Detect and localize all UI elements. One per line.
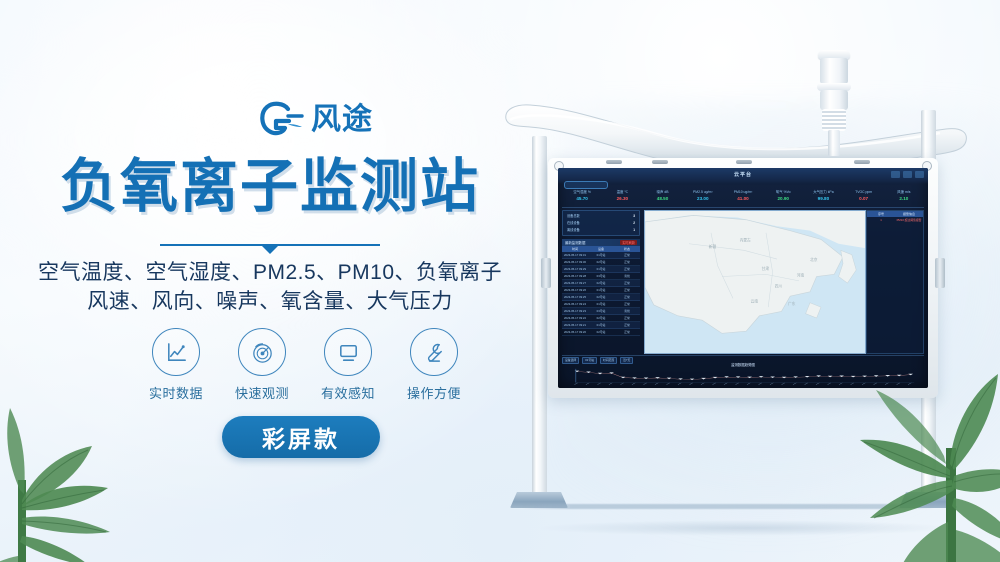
cell-device: 01号站 bbox=[588, 288, 614, 292]
table-title: 最新监测数据 bbox=[565, 240, 585, 245]
cell-status: 正常 bbox=[614, 302, 640, 306]
header-tool-button[interactable] bbox=[891, 171, 900, 178]
metric-value: 20.90 bbox=[763, 195, 803, 203]
table-row[interactable]: 2023-05-17 09:24 01号站 正常 bbox=[562, 301, 640, 308]
cell-status: 离线 bbox=[614, 274, 640, 278]
chart-control-label: 时间范围 bbox=[600, 357, 617, 364]
cell-time: 2023-05-17 09:25 bbox=[562, 295, 588, 299]
alarm-header-cell: 报警信息 bbox=[895, 212, 923, 216]
monitor-display-icon bbox=[324, 328, 372, 376]
svg-text:新疆: 新疆 bbox=[709, 244, 717, 249]
brand-logo: 风途 bbox=[258, 100, 373, 140]
table-row[interactable]: 2023-05-17 09:31 01号站 正常 bbox=[562, 252, 640, 259]
enclosure-mount-tab bbox=[606, 160, 622, 164]
cell-device: 03号站 bbox=[588, 274, 614, 278]
table-row[interactable]: 2023-05-17 09:30 02号站 正常 bbox=[562, 259, 640, 266]
header-tools bbox=[891, 171, 924, 178]
cell-time: 2023-05-17 09:29 bbox=[562, 267, 588, 271]
metric-value: 23.00 bbox=[683, 195, 723, 203]
table-status-badge: 实时刷新 bbox=[620, 240, 637, 245]
cell-device: 01号站 bbox=[588, 253, 614, 257]
subtitle-line-1: 空气温度、空气湿度、PM2.5、PM10、负氧离子 bbox=[0, 258, 540, 287]
cell-status: 正常 bbox=[614, 281, 640, 285]
cell-status: 正常 bbox=[614, 316, 640, 320]
cell-time: 2023-05-17 09:30 bbox=[562, 260, 588, 264]
subtitle-line-2: 风速、风向、噪声、氧含量、大气压力 bbox=[0, 287, 540, 316]
stat-row: 离线设备 1 bbox=[567, 227, 635, 234]
cell-time: 2023-05-17 09:24 bbox=[562, 302, 588, 306]
poster-canvas: 风途 负氧离子监测站 空气温度、空气湿度、PM2.5、PM10、负氧离子 风速、… bbox=[0, 0, 1000, 562]
feature-label: 有效感知 bbox=[312, 383, 384, 402]
radar-sensor-icon bbox=[238, 328, 286, 376]
enclosure-mount-tab bbox=[652, 160, 668, 164]
metric-value: 2.10 bbox=[884, 195, 924, 203]
metric-value: 41.00 bbox=[723, 195, 763, 203]
table-header-cell: 设备 bbox=[588, 247, 614, 251]
cell-status: 正常 bbox=[614, 260, 640, 264]
svg-text:广东: 广东 bbox=[788, 301, 796, 306]
table-header-cell: 状态 bbox=[614, 247, 640, 251]
metric-value: 48.50 bbox=[642, 195, 682, 203]
alarm-message: PM10 超过阈值报警 bbox=[895, 218, 923, 222]
svg-text:河南: 河南 bbox=[797, 273, 805, 278]
cell-status: 正常 bbox=[614, 323, 640, 327]
metric-value: 0.07 bbox=[844, 195, 884, 203]
cell-time: 2023-05-17 09:31 bbox=[562, 253, 588, 257]
alarm-index: 1 bbox=[867, 218, 895, 222]
cell-time: 2023-05-17 09:21 bbox=[562, 323, 588, 327]
cell-time: 2023-05-17 09:27 bbox=[562, 281, 588, 285]
brand-name: 风途 bbox=[311, 105, 373, 135]
metric-card: TVOC ppm 0.07 bbox=[844, 189, 884, 207]
model-badge[interactable]: 彩屏款 bbox=[222, 416, 380, 458]
metric-card: 噪声 dB 48.50 bbox=[642, 189, 682, 207]
dashboard-title: 云平台 bbox=[558, 171, 928, 178]
table-row[interactable]: 2023-05-17 09:29 01号站 正常 bbox=[562, 266, 640, 273]
station-selector-pill[interactable] bbox=[564, 181, 608, 189]
stat-row: 设备总数 3 bbox=[567, 213, 635, 220]
cell-status: 正常 bbox=[614, 330, 640, 334]
cell-time: 2023-05-17 09:20 bbox=[562, 330, 588, 334]
svg-text:四川: 四川 bbox=[775, 284, 783, 288]
stat-label: 设备总数 bbox=[567, 213, 580, 220]
alarm-header-cell: 序号 bbox=[867, 212, 895, 216]
sensor-lower-body bbox=[820, 90, 848, 110]
header-tool-button[interactable] bbox=[903, 171, 912, 178]
svg-text:内蒙古: 内蒙古 bbox=[740, 238, 751, 243]
cell-device: 02号站 bbox=[588, 295, 614, 299]
g-arrow-logo-icon bbox=[258, 100, 304, 140]
side-bracket-left bbox=[541, 258, 551, 288]
cell-status: 离线 bbox=[614, 309, 640, 313]
stat-label: 在线设备 bbox=[567, 220, 580, 227]
device-select[interactable]: 01号站 bbox=[582, 357, 597, 364]
alarm-row[interactable]: 1 PM10 超过阈值报警 bbox=[867, 217, 923, 223]
cell-status: 正常 bbox=[614, 267, 640, 271]
cell-time: 2023-05-17 09:26 bbox=[562, 288, 588, 292]
svg-text:甘肃: 甘肃 bbox=[762, 266, 770, 271]
stat-value: 2 bbox=[633, 220, 635, 227]
table-row[interactable]: 2023-05-17 09:25 02号站 正常 bbox=[562, 294, 640, 301]
metric-card: 空气湿度 % 45.70 bbox=[562, 189, 602, 207]
banana-leaf-plant-icon bbox=[0, 360, 154, 562]
cell-status: 正常 bbox=[614, 295, 640, 299]
left-panel: 设备总数 3 在线设备 2 离线设备 1 bbox=[562, 210, 640, 354]
table-title-bar: 最新监测数据 实时刷新 bbox=[562, 239, 640, 246]
cell-device: 02号站 bbox=[588, 281, 614, 285]
latest-data-table: 最新监测数据 实时刷新 时间 设备 状态 2023-05-17 09:31 01… bbox=[562, 239, 640, 336]
cell-time: 2023-05-17 09:22 bbox=[562, 316, 588, 320]
feature-item-fast-observation[interactable]: 快速观测 bbox=[226, 328, 298, 402]
metric-card: 温度 ℃ 26.30 bbox=[602, 189, 642, 207]
header-tool-button[interactable] bbox=[915, 171, 924, 178]
side-bracket-right bbox=[935, 258, 945, 288]
cell-device: 01号站 bbox=[588, 323, 614, 327]
stat-value: 3 bbox=[633, 213, 635, 220]
cell-status: 正常 bbox=[614, 253, 640, 257]
cell-device: 02号站 bbox=[588, 260, 614, 264]
metric-value: 45.70 bbox=[562, 195, 602, 203]
enclosure-mount-tab bbox=[736, 160, 752, 164]
cell-device: 03号站 bbox=[588, 309, 614, 313]
metric-row: 空气湿度 % 45.70 温度 ℃ 26.30 噪声 dB 48.50 PM bbox=[562, 189, 924, 208]
cell-time: 2023-05-17 09:28 bbox=[562, 274, 588, 278]
subtitle-block: 空气温度、空气湿度、PM2.5、PM10、负氧离子 风速、风向、噪声、氧含量、大… bbox=[0, 258, 540, 316]
line-chart-icon bbox=[152, 328, 200, 376]
stat-label: 离线设备 bbox=[567, 227, 580, 234]
cell-device: 01号站 bbox=[588, 267, 614, 271]
metric-value: 99.80 bbox=[803, 195, 843, 203]
cell-time: 2023-05-17 09:23 bbox=[562, 309, 588, 313]
table-row[interactable]: 2023-05-17 09:21 01号站 正常 bbox=[562, 322, 640, 329]
wrench-tool-icon bbox=[410, 328, 458, 376]
ultrasonic-weather-sensor-icon bbox=[812, 50, 856, 155]
sensor-radiation-shield bbox=[822, 109, 846, 131]
stat-value: 1 bbox=[633, 227, 635, 234]
stat-row: 在线设备 2 bbox=[567, 220, 635, 227]
range-select[interactable]: 近7天 bbox=[620, 357, 633, 364]
table-row[interactable]: 2023-05-17 09:27 02号站 正常 bbox=[562, 280, 640, 287]
feature-item-effective-sensing[interactable]: 有效感知 bbox=[312, 328, 384, 402]
metric-card: PM2.5 ug/m³ 23.00 bbox=[683, 189, 723, 207]
feature-label: 快速观测 bbox=[226, 383, 298, 402]
cell-device: 02号站 bbox=[588, 330, 614, 334]
metric-card: 风速 m/s 2.10 bbox=[884, 189, 924, 207]
feature-list: 实时数据 快速观测 bbox=[140, 328, 470, 402]
cell-device: 01号站 bbox=[588, 302, 614, 306]
page-title: 负氧离子监测站 bbox=[0, 158, 540, 216]
cell-device: 02号站 bbox=[588, 316, 614, 320]
table-row[interactable]: 2023-05-17 09:28 03号站 离线 bbox=[562, 273, 640, 280]
triangle-down-divider-icon bbox=[262, 246, 278, 254]
feature-item-easy-operation[interactable]: 操作方便 bbox=[398, 328, 470, 402]
chart-control-label: 设备选择 bbox=[562, 357, 579, 364]
banana-leaf-plant-icon bbox=[818, 330, 1000, 562]
cell-status: 正常 bbox=[614, 288, 640, 292]
sensor-mounting-stem bbox=[828, 130, 840, 156]
sensor-upper-body bbox=[820, 58, 848, 84]
svg-text:云南: 云南 bbox=[751, 299, 759, 304]
table-row[interactable]: 2023-05-17 09:20 02号站 正常 bbox=[562, 329, 640, 336]
title-divider bbox=[160, 243, 380, 255]
metric-card: 氧气 %Vo 20.90 bbox=[763, 189, 803, 207]
metric-value: 26.30 bbox=[602, 195, 642, 203]
table-header-cell: 时间 bbox=[562, 247, 588, 251]
table-row[interactable]: 2023-05-17 09:23 03号站 离线 bbox=[562, 308, 640, 315]
device-stats-box: 设备总数 3 在线设备 2 离线设备 1 bbox=[562, 210, 640, 236]
metric-card: PM10 ug/m³ 41.00 bbox=[723, 189, 763, 207]
table-row[interactable]: 2023-05-17 09:26 01号站 正常 bbox=[562, 287, 640, 294]
support-post-left bbox=[532, 136, 547, 496]
table-row[interactable]: 2023-05-17 09:22 02号站 正常 bbox=[562, 315, 640, 322]
metric-card: 大气压力 kPa 99.80 bbox=[803, 189, 843, 207]
feature-label: 操作方便 bbox=[398, 383, 470, 402]
enclosure-mount-tab bbox=[854, 160, 870, 164]
svg-text:北京: 北京 bbox=[810, 257, 818, 262]
